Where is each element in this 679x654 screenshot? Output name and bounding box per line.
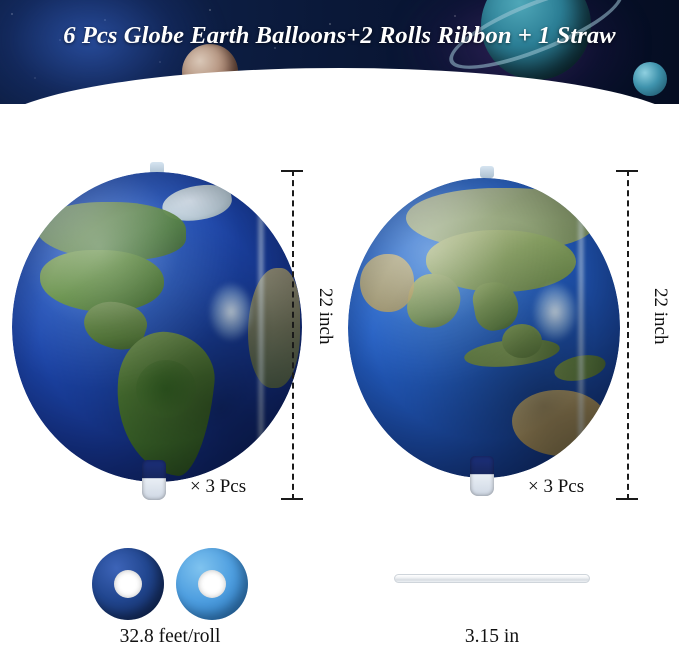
quantity-label-right: × 3 Pcs [528,476,584,498]
dimension-line-left [292,170,294,500]
globe-balloon-americas [12,172,302,482]
product-image: 6 Pcs Globe Earth Balloons+2 Rolls Ribbo… [0,0,679,654]
straw-caption: 3.15 in [392,626,592,648]
planet-small-icon [633,62,667,96]
ribbon-caption: 32.8 feet/roll [60,626,280,648]
globe-left-shading [12,172,302,482]
dimension-cap-bottom-left [281,498,303,500]
dimension-bracket-right [616,170,638,500]
balloon-right-group [348,160,638,520]
balloon-right-nozzle [470,456,494,496]
dimension-line-right [627,170,629,500]
globe-balloon-asia-oceania [348,178,620,478]
balloon-left-nozzle [142,460,166,500]
balloon-left-group [12,160,312,520]
dimension-cap-top-right [616,170,638,172]
dimension-bracket-left [281,170,303,500]
dimension-cap-bottom-right [616,498,638,500]
header-banner: 6 Pcs Globe Earth Balloons+2 Rolls Ribbo… [0,0,679,104]
dimension-label-right: 22 inch [649,288,671,344]
ribbon-roll-light-hole [198,570,226,598]
dimension-label-left: 22 inch [314,288,336,344]
banner-title: 6 Pcs Globe Earth Balloons+2 Rolls Ribbo… [0,22,679,50]
globe-right-shading [348,178,620,478]
straw [394,574,590,583]
ribbon-roll-dark-hole [114,570,142,598]
dimension-cap-top-left [281,170,303,172]
quantity-label-left: × 3 Pcs [190,476,246,498]
ribbon-roll-dark [92,548,164,620]
ribbon-roll-light [176,548,248,620]
balloon-right-top-tab [480,166,494,178]
